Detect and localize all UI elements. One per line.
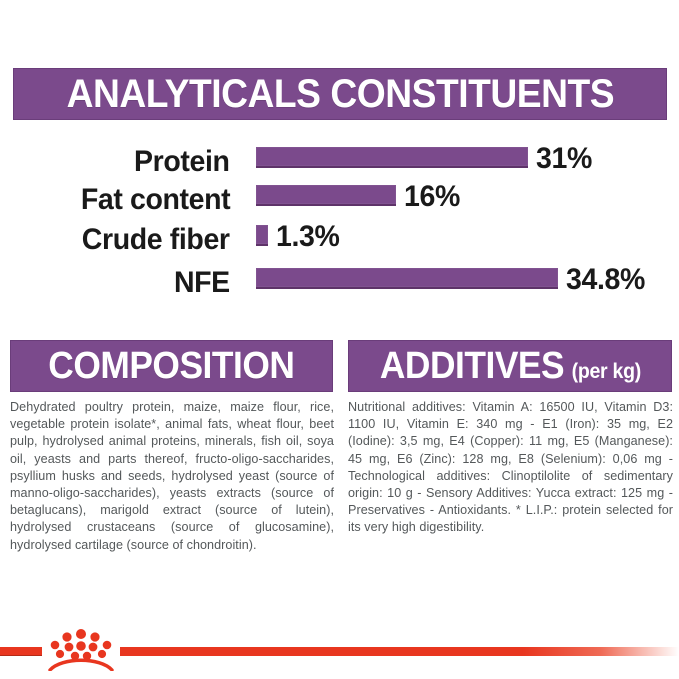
additives-title-row: ADDITIVES (per kg): [379, 347, 640, 385]
additives-header: ADDITIVES (per kg): [348, 340, 672, 392]
additives-body-text: Nutritional additives: Vitamin A: 16500 …: [348, 399, 673, 537]
additives-title: ADDITIVES: [379, 347, 563, 385]
footer-rule-left: [0, 647, 42, 656]
analyticals-constituents-header: ANALYTICALS CONSTITUENTS: [13, 68, 667, 120]
bar-label-nfe: NFE: [174, 268, 230, 298]
composition-body-text: Dehydrated poultry protein, maize, maize…: [10, 399, 334, 554]
bar-fill-nfe: [256, 268, 558, 289]
bar-track-crude-fiber: [256, 225, 268, 246]
bar-label-crude-fiber: Crude fiber: [82, 225, 230, 255]
bar-track-fat-content: [256, 185, 396, 206]
composition-header: COMPOSITION: [10, 340, 333, 392]
bar-track-nfe: [256, 268, 558, 289]
bar-fill-crude-fiber: [256, 225, 268, 246]
bar-value-fat-content: 16%: [404, 182, 460, 212]
brand-footer-strip: [0, 596, 679, 679]
composition-title: COMPOSITION: [48, 347, 294, 385]
bar-label-protein: Protein: [134, 147, 230, 177]
bar-value-crude-fiber: 1.3%: [276, 222, 339, 252]
bar-track-protein: [256, 147, 528, 168]
additives-subtitle: (per kg): [571, 361, 640, 382]
bar-fill-protein: [256, 147, 528, 168]
bar-label-fat-content: Fat content: [81, 185, 230, 215]
bar-fill-fat-content: [256, 185, 396, 206]
bar-value-protein: 31%: [536, 144, 592, 174]
analyticals-bar-chart: Protein 31% Fat content 16% Crude fiber …: [0, 134, 679, 309]
product-info-panel: ANALYTICALS CONSTITUENTS Protein 31% Fat…: [0, 0, 679, 679]
footer-rule-right: [120, 647, 679, 656]
bar-value-nfe: 34.8%: [566, 265, 645, 295]
analyticals-constituents-title: ANALYTICALS CONSTITUENTS: [66, 74, 614, 114]
royal-canin-crown-icon: [44, 627, 118, 671]
